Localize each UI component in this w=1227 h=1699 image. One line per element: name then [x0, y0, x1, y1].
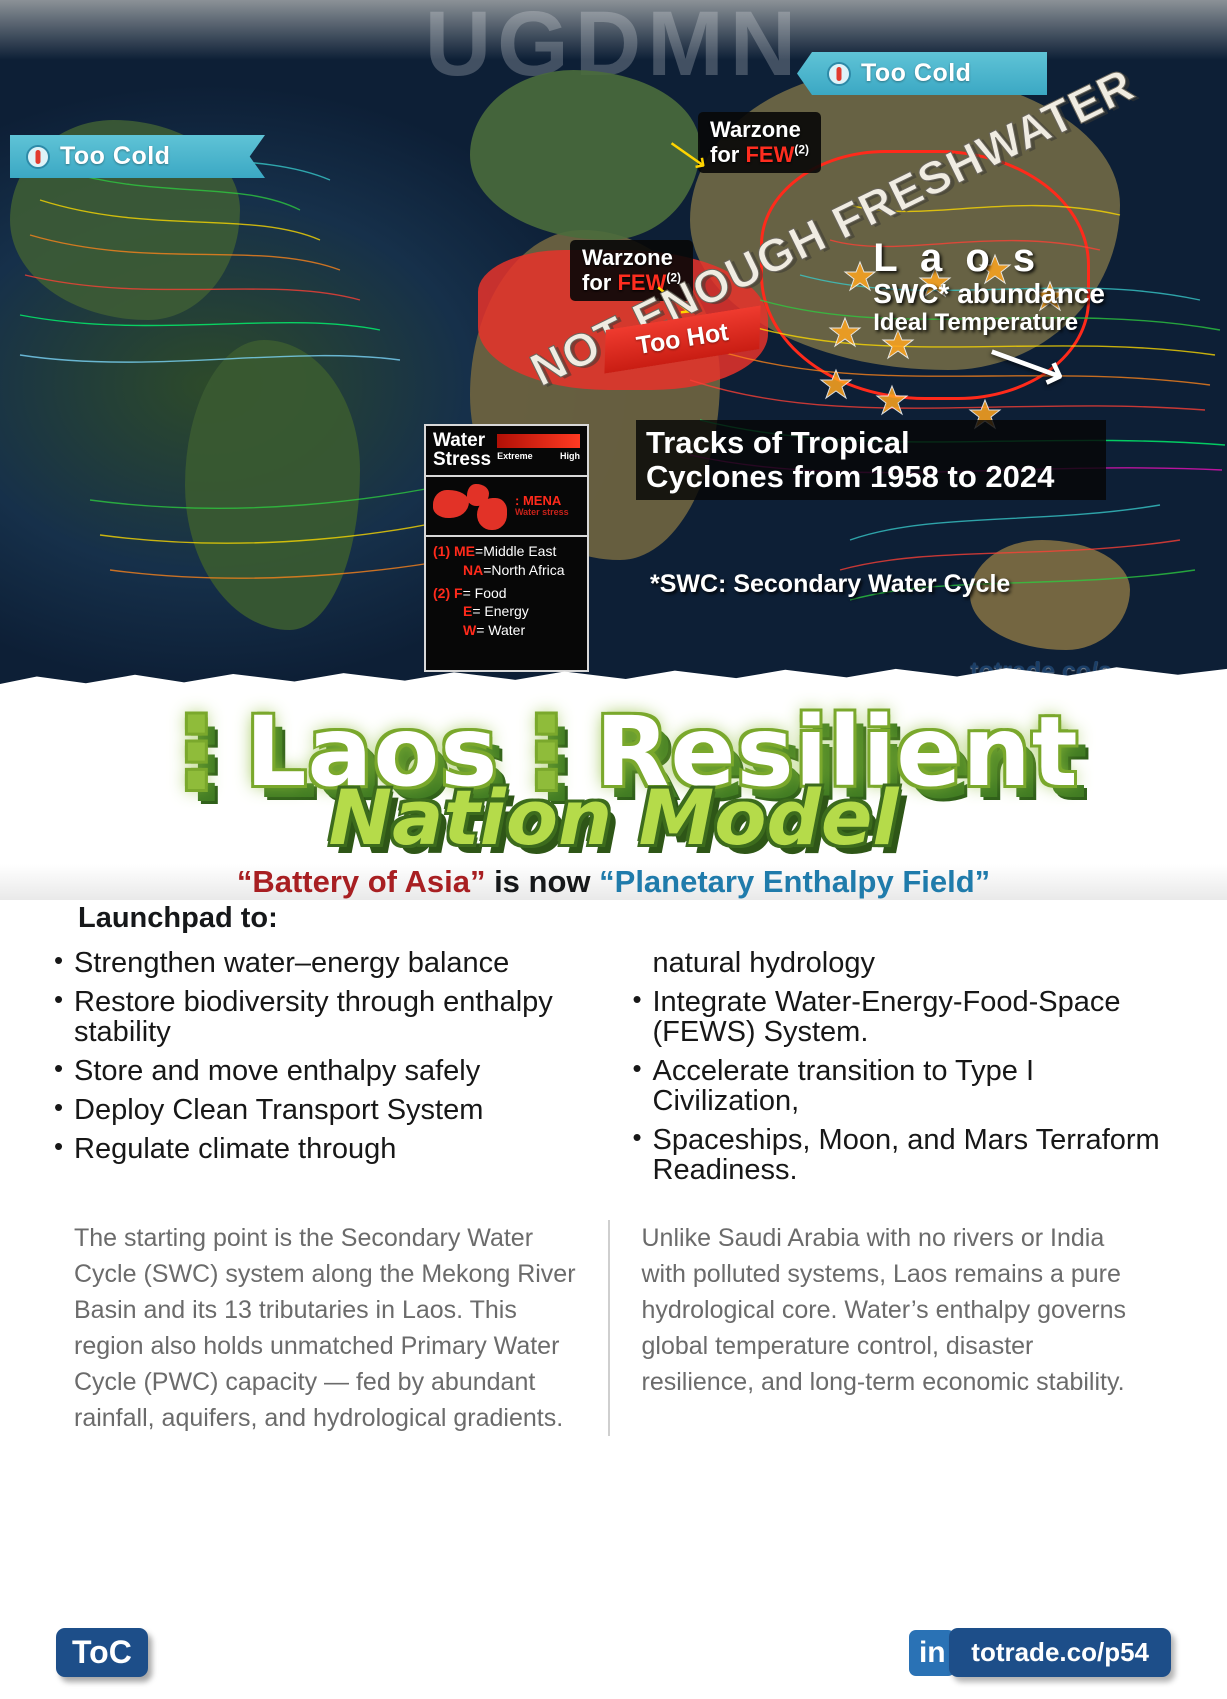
tracks-title-line2: Cyclones from 1958 to 2024: [646, 460, 1096, 494]
world-map-hero: UGDMN: [0, 0, 1227, 700]
legend-scale-high: High: [560, 451, 580, 461]
title-decor-dot-left: ⋮: [148, 696, 245, 808]
callout-prefix: for: [710, 142, 745, 167]
bullet-list-left: Strengthen water–energy balance Restore …: [52, 949, 603, 1164]
laos-annotation: L a o s SWC* abundance Ideal Temperature: [873, 238, 1105, 337]
bullet-list-right: Integrate Water-Energy-Food-Space (FEWS)…: [625, 988, 1176, 1185]
swc-footnote: *SWC: Secondary Water Cycle: [650, 570, 1010, 599]
legend-mena-text: : MENA: [515, 493, 561, 508]
legend-item-value: =North Africa: [483, 562, 564, 578]
bullet-continuation: natural hydrology: [625, 949, 1176, 979]
legend-item-value: =Middle East: [475, 543, 556, 559]
tracks-title: Tracks of Tropical Cyclones from 1958 to…: [636, 420, 1106, 500]
legend-item-value: = Water: [476, 622, 525, 638]
legend-divider-2: [426, 535, 587, 537]
legend-mena-sub: Water stress: [515, 508, 569, 517]
legend-item-key: NA: [463, 562, 483, 578]
laos-name: L a o s: [873, 238, 1105, 278]
callout-sup: (2): [794, 142, 809, 156]
legend-item-value: = Energy: [472, 603, 528, 619]
water-stress-legend: Water Stress Extreme High: [424, 424, 589, 672]
paragraph-columns: The starting point is the Secondary Wate…: [0, 1194, 1227, 1436]
url-badge[interactable]: totrade.co/p54: [949, 1628, 1171, 1677]
legend-header: Water Stress Extreme High: [433, 431, 580, 470]
legend-title: Water Stress: [433, 431, 491, 470]
list-item: Store and move enthalpy safely: [52, 1057, 603, 1087]
legend-scale-low: Extreme: [497, 451, 533, 461]
paragraph-right: Unlike Saudi Arabia with no rivers or In…: [608, 1220, 1176, 1436]
footer-link-group: in totrade.co/p54: [909, 1628, 1171, 1677]
infographic-page: UGDMN: [0, 0, 1227, 1699]
legend-divider: [426, 475, 587, 477]
page-footer: ToC in totrade.co/p54: [0, 1628, 1227, 1677]
callout-prefix: for: [582, 270, 617, 295]
laos-swc-abundance: SWC* abundance: [873, 278, 1105, 309]
legend-scale: Extreme High: [497, 431, 580, 461]
tagline-blue: “Planetary Enthalpy Field”: [599, 864, 990, 899]
tagline: “Battery of Asia” is now “Planetary Enth…: [0, 864, 1227, 900]
paragraph-left: The starting point is the Secondary Wate…: [52, 1220, 608, 1436]
list-item: Regulate climate through: [52, 1135, 603, 1165]
toc-button[interactable]: ToC: [56, 1628, 148, 1677]
legend-title-line1: Water: [433, 431, 491, 450]
legend-item: NA=North Africa: [433, 561, 580, 580]
tagline-black: is now: [485, 864, 599, 899]
list-item: Spaceships, Moon, and Mars Terraform Rea…: [625, 1126, 1176, 1186]
tagline-red: “Battery of Asia”: [237, 864, 486, 899]
legend-item-key: W: [463, 622, 476, 638]
legend-title-line2: Stress: [433, 450, 491, 469]
callout-warzone-ukraine: Warzone for FEW(2): [698, 112, 821, 173]
callout-line1: Warzone: [582, 246, 681, 271]
legend-item-key: F: [454, 585, 463, 601]
bullet-column-left: Strengthen water–energy balance Restore …: [52, 949, 603, 1194]
list-item: Restore biodiversity through enthalpy st…: [52, 988, 603, 1048]
title-block: ⋮Laos⋮Resilient Nation Model: [0, 700, 1227, 854]
legend-item-num: (2): [433, 585, 450, 601]
list-item: Integrate Water-Energy-Food-Space (FEWS)…: [625, 988, 1176, 1048]
callout-line2: for FEW(2): [710, 143, 809, 168]
ribbon-too-cold-right: Too Cold: [797, 52, 1047, 95]
legend-item-num: (1): [433, 543, 450, 559]
legend-item: (1) ME=Middle East: [433, 542, 580, 561]
legend-item: E= Energy: [433, 602, 580, 621]
legend-item: (2) F= Food: [433, 584, 580, 603]
launchpad-label: Launchpad to:: [78, 902, 1227, 935]
list-item: Deploy Clean Transport System: [52, 1096, 603, 1126]
ribbon-left-label: Too Cold: [60, 142, 170, 171]
legend-scale-labels: Extreme High: [497, 451, 580, 461]
legend-mena-label: : MENA Water stress: [515, 494, 569, 517]
legend-item: W= Water: [433, 621, 580, 640]
ribbon-too-cold-left: Too Cold: [10, 135, 265, 178]
thermometer-icon: [827, 62, 851, 86]
mena-map-icon: [433, 482, 511, 530]
legend-definitions: (1) ME=Middle East NA=North Africa (2) F…: [433, 542, 580, 640]
bullet-column-right: natural hydrology Integrate Water-Energy…: [625, 949, 1176, 1194]
thermometer-icon: [26, 145, 50, 169]
legend-item-value: = Food: [463, 585, 507, 601]
legend-gradient-bar: [497, 434, 580, 448]
tracks-title-line1: Tracks of Tropical: [646, 426, 1096, 460]
list-item: Accelerate transition to Type I Civiliza…: [625, 1057, 1176, 1117]
ribbon-right-label: Too Cold: [861, 59, 971, 88]
legend-item-key: ME: [454, 543, 475, 559]
legend-mena-row: : MENA Water stress: [433, 482, 580, 530]
bullet-columns: Strengthen water–energy balance Restore …: [0, 935, 1227, 1194]
list-item: Strengthen water–energy balance: [52, 949, 603, 979]
legend-item-key: E: [463, 603, 472, 619]
laos-ideal-temperature: Ideal Temperature: [873, 309, 1105, 337]
callout-line1: Warzone: [710, 118, 809, 143]
callout-few-key: FEW: [745, 142, 794, 167]
